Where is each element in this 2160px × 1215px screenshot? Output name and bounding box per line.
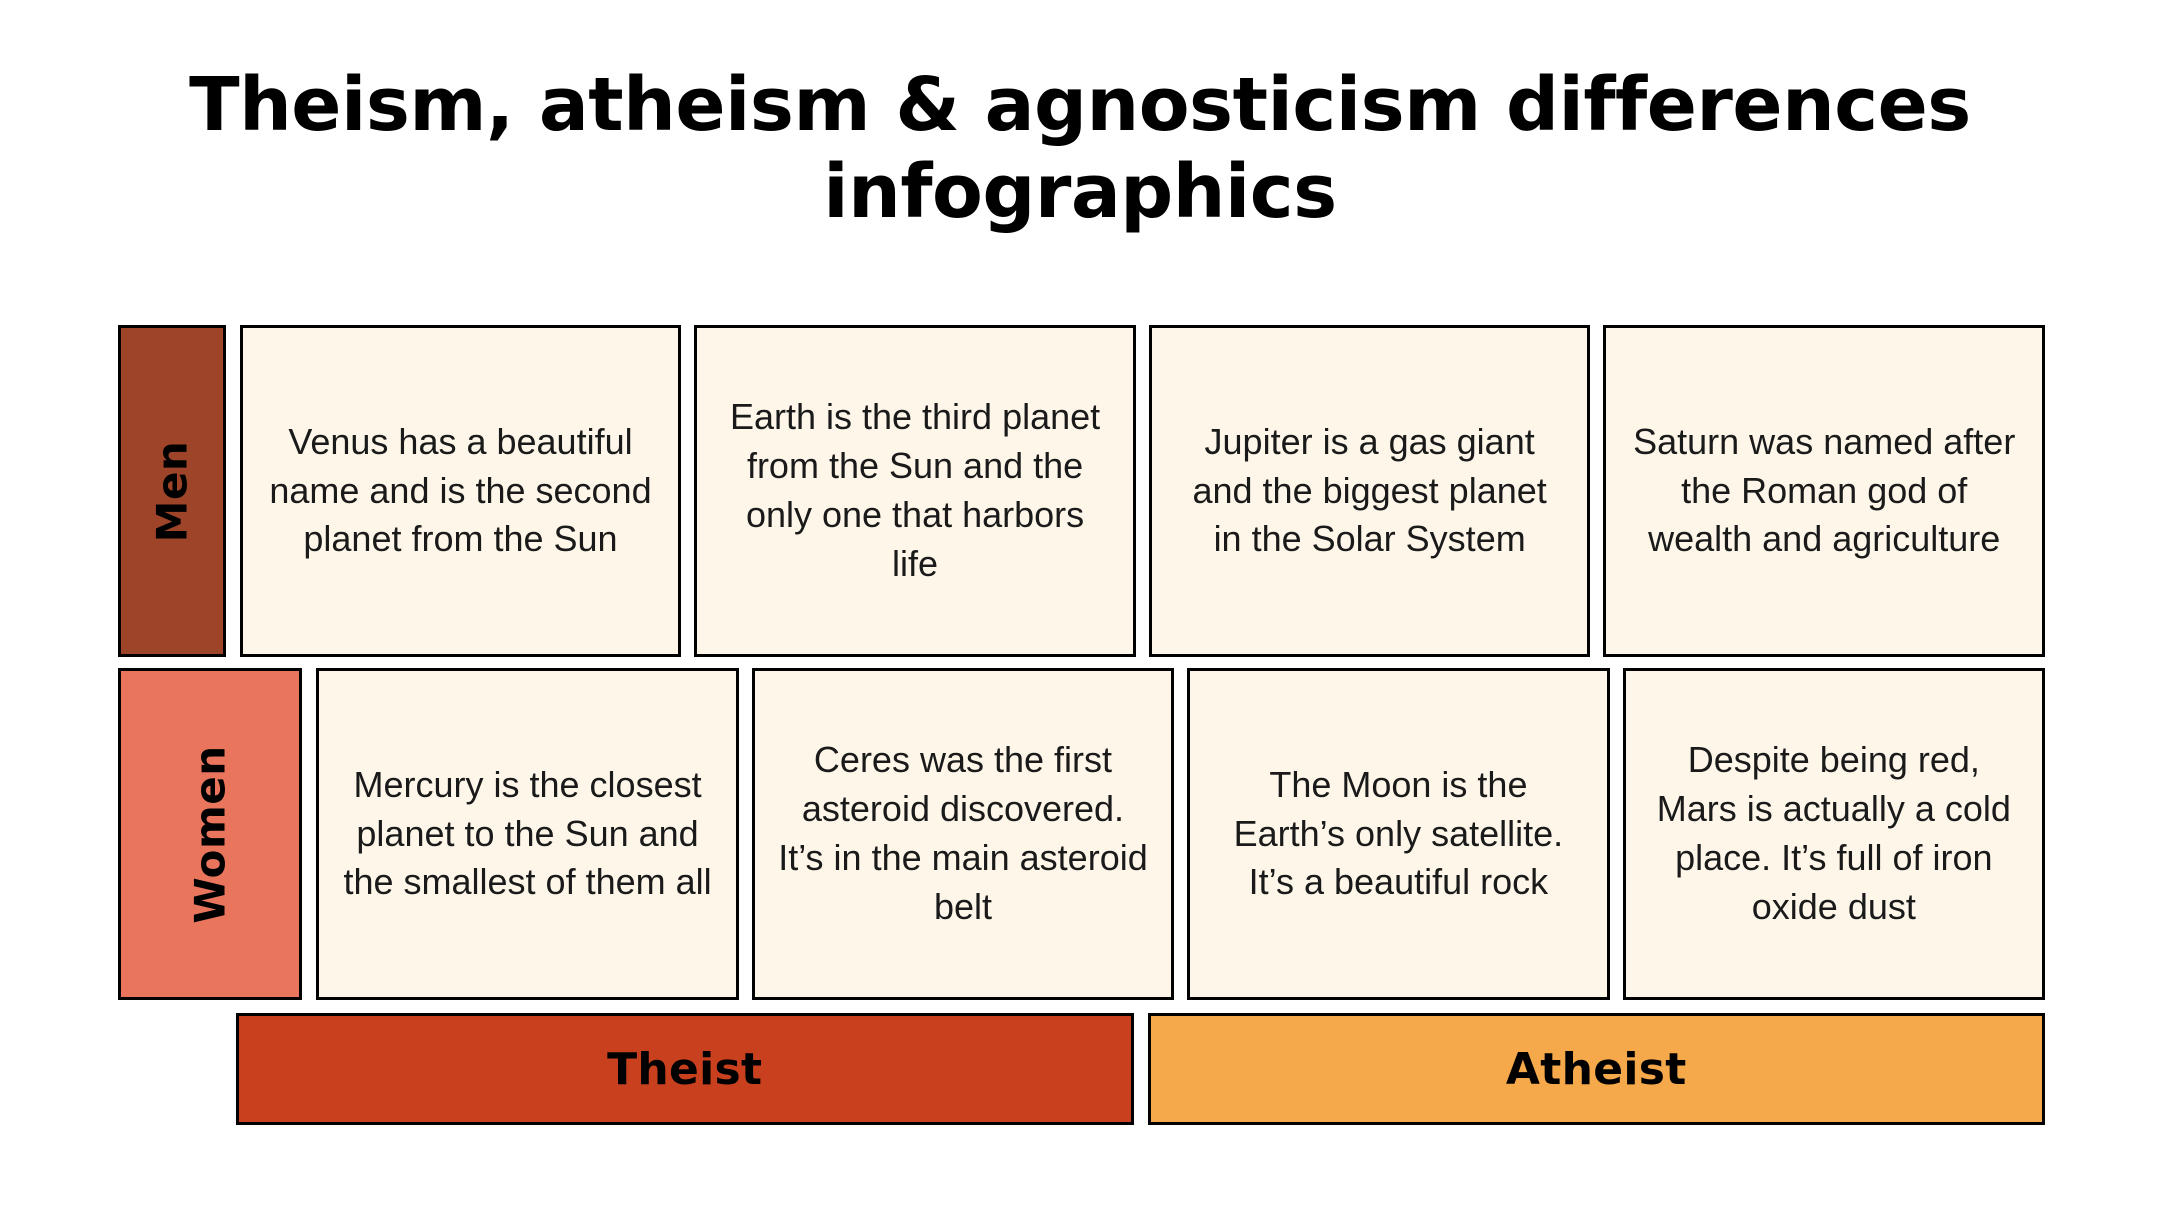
matrix-row-men-cells: Venus has a beautiful name and is the se… xyxy=(240,325,2045,657)
row-label-men[interactable]: Men xyxy=(118,325,226,657)
legend-bar-atheist[interactable]: Atheist xyxy=(1148,1013,2046,1125)
matrix-cell[interactable]: Ceres was the first asteroid discovered.… xyxy=(752,668,1174,1000)
matrix-row-women-cells: Mercury is the closest planet to the Sun… xyxy=(316,668,2045,1000)
matrix-cell[interactable]: Jupiter is a gas giant and the biggest p… xyxy=(1149,325,1591,657)
legend-bar-theist-label: Theist xyxy=(607,1044,762,1095)
legend-bar-atheist-label: Atheist xyxy=(1506,1044,1687,1095)
matrix-cell[interactable]: The Moon is the Earth’s only satellite. … xyxy=(1187,668,1609,1000)
matrix-cell-text: Jupiter is a gas giant and the biggest p… xyxy=(1174,418,1566,565)
row-label-women[interactable]: Women xyxy=(118,668,302,1000)
row-label-women-text: Women xyxy=(186,745,235,923)
matrix-cell-text: Venus has a beautiful name and is the se… xyxy=(265,418,657,565)
infographic-slide: Theism, atheism & agnosticism difference… xyxy=(0,0,2160,1215)
matrix-cell[interactable]: Venus has a beautiful name and is the se… xyxy=(240,325,682,657)
matrix-cell-text: Earth is the third planet from the Sun a… xyxy=(719,393,1111,589)
matrix-cell-text: Saturn was named after the Roman god of … xyxy=(1628,418,2020,565)
matrix-row-men: Men Venus has a beautiful name and is th… xyxy=(118,325,2045,657)
comparison-matrix: Men Venus has a beautiful name and is th… xyxy=(118,325,2045,1000)
legend-bars: Theist Atheist xyxy=(236,1013,2045,1125)
matrix-cell-text: Ceres was the first asteroid discovered.… xyxy=(777,736,1149,932)
matrix-cell[interactable]: Saturn was named after the Roman god of … xyxy=(1603,325,2045,657)
matrix-cell-text: Mercury is the closest planet to the Sun… xyxy=(341,761,713,908)
row-label-men-text: Men xyxy=(147,440,196,542)
matrix-cell[interactable]: Mercury is the closest planet to the Sun… xyxy=(316,668,738,1000)
page-title: Theism, atheism & agnosticism difference… xyxy=(180,62,1980,237)
matrix-cell[interactable]: Earth is the third planet from the Sun a… xyxy=(694,325,1136,657)
matrix-cell-text: Despite being red, Mars is actually a co… xyxy=(1648,736,2020,932)
legend-bar-theist[interactable]: Theist xyxy=(236,1013,1134,1125)
matrix-cell[interactable]: Despite being red, Mars is actually a co… xyxy=(1623,668,2045,1000)
matrix-row-women: Women Mercury is the closest planet to t… xyxy=(118,668,2045,1000)
matrix-cell-text: The Moon is the Earth’s only satellite. … xyxy=(1212,761,1584,908)
